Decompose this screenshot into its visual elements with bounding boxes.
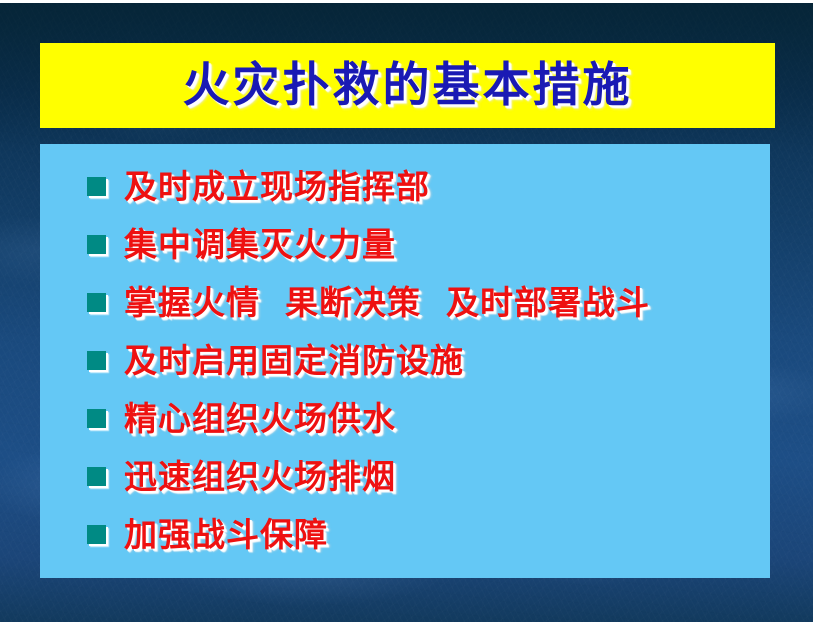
list-item: 掌握火情 果断决策 及时部署战斗 bbox=[40, 273, 770, 331]
list-item: 精心组织火场供水 bbox=[40, 389, 770, 447]
list-item-label: 及时启用固定消防设施 bbox=[124, 344, 464, 377]
list-item-label: 集中调集灭火力量 bbox=[124, 228, 396, 261]
list-item-label: 及时成立现场指挥部 bbox=[124, 170, 430, 203]
list-item: 集中调集灭火力量 bbox=[40, 215, 770, 273]
list-item: 迅速组织火场排烟 bbox=[40, 447, 770, 505]
list-item-label: 迅速组织火场排烟 bbox=[124, 460, 396, 493]
title-banner: 火灾扑救的基本措施 bbox=[40, 43, 775, 128]
square-bullet-icon bbox=[87, 525, 106, 544]
square-bullet-icon bbox=[87, 467, 106, 486]
list-item: 及时成立现场指挥部 bbox=[40, 157, 770, 215]
square-bullet-icon bbox=[87, 351, 106, 370]
list-item-label: 掌握火情 果断决策 及时部署战斗 bbox=[124, 286, 650, 319]
square-bullet-icon bbox=[87, 177, 106, 196]
page-top-margin bbox=[0, 0, 813, 3]
bullet-list: 及时成立现场指挥部 集中调集灭火力量 掌握火情 果断决策 及时部署战斗 及时启用… bbox=[40, 157, 770, 563]
square-bullet-icon bbox=[87, 293, 106, 312]
list-item: 及时启用固定消防设施 bbox=[40, 331, 770, 389]
content-panel: 及时成立现场指挥部 集中调集灭火力量 掌握火情 果断决策 及时部署战斗 及时启用… bbox=[40, 144, 770, 578]
list-item-label: 加强战斗保障 bbox=[124, 518, 328, 551]
square-bullet-icon bbox=[87, 235, 106, 254]
page-title: 火灾扑救的基本措施 bbox=[183, 62, 633, 109]
list-item: 加强战斗保障 bbox=[40, 505, 770, 563]
presentation-slide: 火灾扑救的基本措施 及时成立现场指挥部 集中调集灭火力量 掌握火情 果断决策 及… bbox=[0, 0, 813, 626]
list-item-label: 精心组织火场供水 bbox=[124, 402, 396, 435]
square-bullet-icon bbox=[87, 409, 106, 428]
page-bottom-margin bbox=[0, 622, 813, 626]
